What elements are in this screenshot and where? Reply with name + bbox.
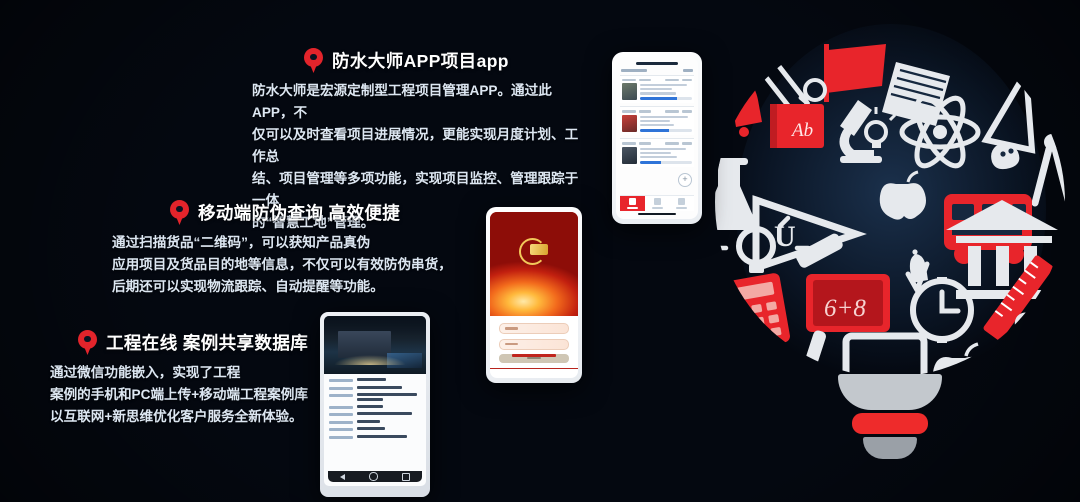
apple-icon: [880, 172, 926, 220]
tab-profile[interactable]: [669, 196, 694, 212]
blackboard-icon: 6+8: [806, 274, 890, 332]
detail-value: [357, 378, 421, 381]
case-photo: [324, 316, 426, 374]
svg-text:U: U: [774, 220, 796, 253]
eraser-icon: [794, 232, 844, 270]
detail-label: [329, 421, 353, 424]
detail-value: [357, 435, 421, 438]
list-item[interactable]: [620, 138, 694, 167]
section-casebase-title: 工程在线 案例共享数据库: [106, 330, 308, 355]
home-indicator: [638, 213, 676, 216]
plus-icon[interactable]: +: [678, 173, 692, 187]
phone-case-detail-screen: [324, 316, 426, 486]
username-field[interactable]: [499, 323, 569, 334]
apple-icon: [933, 344, 987, 394]
map-pin-icon: [170, 200, 189, 225]
header-action-placeholder[interactable]: [683, 69, 693, 72]
tab-projects[interactable]: [645, 196, 670, 212]
list-item-row: [622, 83, 692, 100]
clock-icon: [913, 277, 971, 343]
section-app-header: 防水大师APP项目app: [252, 48, 582, 73]
detail-row: [329, 378, 421, 382]
list-item-meta: [622, 79, 692, 82]
phone-project-list-screen: +: [616, 57, 698, 219]
list-item-row: [622, 115, 692, 132]
list-item[interactable]: [620, 75, 694, 104]
section-anticounterfeit-body: 通过扫描货品“二维码”，可以获知产品真伪 应用项目及货品目的地等信息，不仅可以有…: [112, 232, 462, 298]
flask-icon: [703, 158, 755, 230]
progress-bar: [640, 97, 692, 100]
progress-bar: [640, 129, 692, 132]
recents-icon[interactable]: [402, 473, 410, 481]
detail-label: [329, 379, 353, 382]
list-item-meta: [622, 142, 692, 145]
bottom-tab-bar: [620, 195, 694, 212]
lightbulb-icon-cluster: Ab U: [700, 14, 1080, 502]
phone-case-detail: [320, 312, 430, 497]
detail-row: [329, 427, 421, 431]
detail-value: [357, 427, 421, 430]
detail-row: [329, 412, 421, 416]
bell-icon: [732, 71, 762, 137]
detail-label: [329, 406, 353, 409]
palette-icon: [737, 361, 793, 394]
calculator-icon: [724, 272, 791, 351]
detail-rows: [324, 374, 426, 439]
login-hero-banner: [490, 212, 578, 316]
hongyuan-logo-icon: [519, 238, 549, 262]
detail-row: [329, 420, 421, 424]
avatar: [622, 147, 637, 164]
infographic-canvas: Ab U: [0, 0, 1080, 502]
detail-row: [329, 393, 421, 401]
detail-label: [329, 413, 353, 416]
bulb-base-cap: [863, 437, 917, 459]
avatar: [622, 83, 637, 100]
phone-project-list: +: [612, 52, 702, 224]
list-item-meta: [622, 110, 692, 113]
detail-label: [329, 436, 353, 439]
flag-icon: [824, 44, 886, 102]
compass-icon: [1035, 134, 1069, 203]
detail-value: [357, 393, 421, 401]
photo-building: [338, 331, 391, 358]
detail-row: [329, 405, 421, 409]
footer-divider: [490, 368, 578, 369]
triangle-ruler-icon: [986, 72, 1032, 150]
map-pin-icon: [78, 330, 97, 355]
detail-value: [357, 386, 421, 389]
detail-label: [329, 387, 353, 390]
pencil-icon: [794, 329, 827, 394]
detail-row: [329, 386, 421, 390]
magnifier-icon: [1006, 340, 1063, 394]
svg-text:6+8: 6+8: [824, 295, 866, 322]
phone-login-screen: [490, 212, 578, 378]
phone-login: [486, 207, 582, 383]
paperclip-icon: [1015, 313, 1043, 364]
list-item-row: [622, 147, 692, 164]
section-anticounterfeit: 移动端防伪查询 高效便捷 通过扫描货品“二维码”，可以获知产品真伪 应用项目及货…: [112, 200, 462, 298]
list-item[interactable]: [620, 106, 694, 135]
detail-label: [329, 394, 353, 397]
footer-copyright-text: [490, 344, 578, 362]
back-icon[interactable]: [340, 474, 345, 480]
header-title-placeholder: [621, 69, 647, 72]
status-bar: [636, 62, 678, 65]
list-item-lines: [640, 115, 692, 132]
detail-row: [329, 435, 421, 439]
home-icon[interactable]: [369, 472, 377, 480]
detail-value: [357, 420, 421, 423]
detail-value: [357, 412, 421, 415]
svg-text:Ab: Ab: [790, 120, 813, 141]
section-app-title: 防水大师APP项目app: [332, 48, 509, 73]
detail-label: [329, 428, 353, 431]
android-nav-bar: [328, 471, 422, 482]
section-anticounterfeit-header: 移动端防伪查询 高效便捷: [112, 200, 462, 225]
list-item-lines: [640, 83, 692, 100]
bulb-base-collar: [838, 374, 942, 410]
bulb-icons-svg: Ab U: [700, 14, 1080, 394]
photo-lights: [334, 355, 405, 364]
book-ab-icon: Ab: [770, 104, 824, 148]
detail-value: [357, 405, 421, 408]
tab-home[interactable]: [620, 196, 645, 212]
map-pin-icon: [304, 48, 323, 73]
list-item-lines: [640, 147, 692, 164]
bulb-base-band: [852, 413, 928, 434]
avatar: [622, 115, 637, 132]
progress-bar: [640, 161, 692, 164]
section-anticounterfeit-title: 移动端防伪查询 高效便捷: [198, 200, 400, 225]
